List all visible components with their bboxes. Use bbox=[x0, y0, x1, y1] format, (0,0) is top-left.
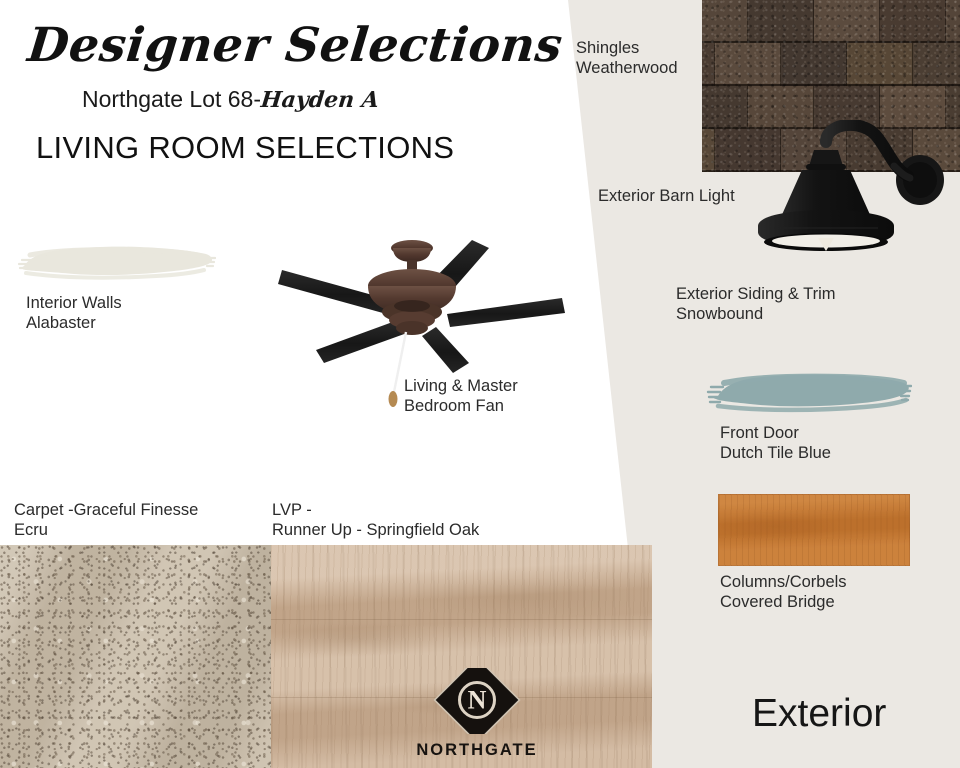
northgate-diamond-icon: N bbox=[412, 668, 542, 734]
ceiling-fan-label: Living & Master Bedroom Fan bbox=[404, 376, 518, 416]
carpet-label: Carpet -Graceful Finesse Ecru bbox=[14, 500, 198, 540]
designer-selections-board: Designer Selections Northgate Lot 68-Hay… bbox=[0, 0, 960, 768]
northgate-logo: N NORTHGATE bbox=[412, 668, 542, 760]
columns-corbels-swatch bbox=[718, 494, 910, 566]
logo-wordmark: NORTHGATE bbox=[412, 741, 542, 760]
plan-name-label: Hayden A bbox=[260, 87, 381, 113]
front-door-swatch bbox=[706, 366, 912, 418]
exterior-section-heading: Exterior bbox=[752, 692, 886, 736]
front-door-label: Front Door Dutch Tile Blue bbox=[720, 423, 831, 463]
carpet-swatch bbox=[0, 545, 271, 768]
project-lot-label: Northgate Lot 68- bbox=[82, 86, 261, 112]
barn-light-image bbox=[744, 120, 960, 260]
flooring-swatch-strip bbox=[0, 545, 652, 768]
page-title: Designer Selections bbox=[25, 18, 565, 73]
interior-walls-label: Interior Walls Alabaster bbox=[26, 293, 122, 333]
siding-trim-label: Exterior Siding & Trim Snowbound bbox=[676, 284, 836, 324]
columns-corbels-label: Columns/Corbels Covered Bridge bbox=[720, 572, 847, 612]
project-subtitle: Northgate Lot 68-Hayden A bbox=[82, 86, 379, 113]
lvp-label: LVP - Runner Up - Springfield Oak bbox=[272, 500, 479, 540]
barn-light-label: Exterior Barn Light bbox=[598, 186, 735, 206]
shingles-label: Shingles Weatherwood bbox=[576, 38, 678, 78]
interior-walls-swatch bbox=[16, 240, 216, 284]
logo-monogram: N bbox=[468, 686, 487, 715]
living-room-section-heading: LIVING ROOM SELECTIONS bbox=[36, 130, 454, 166]
